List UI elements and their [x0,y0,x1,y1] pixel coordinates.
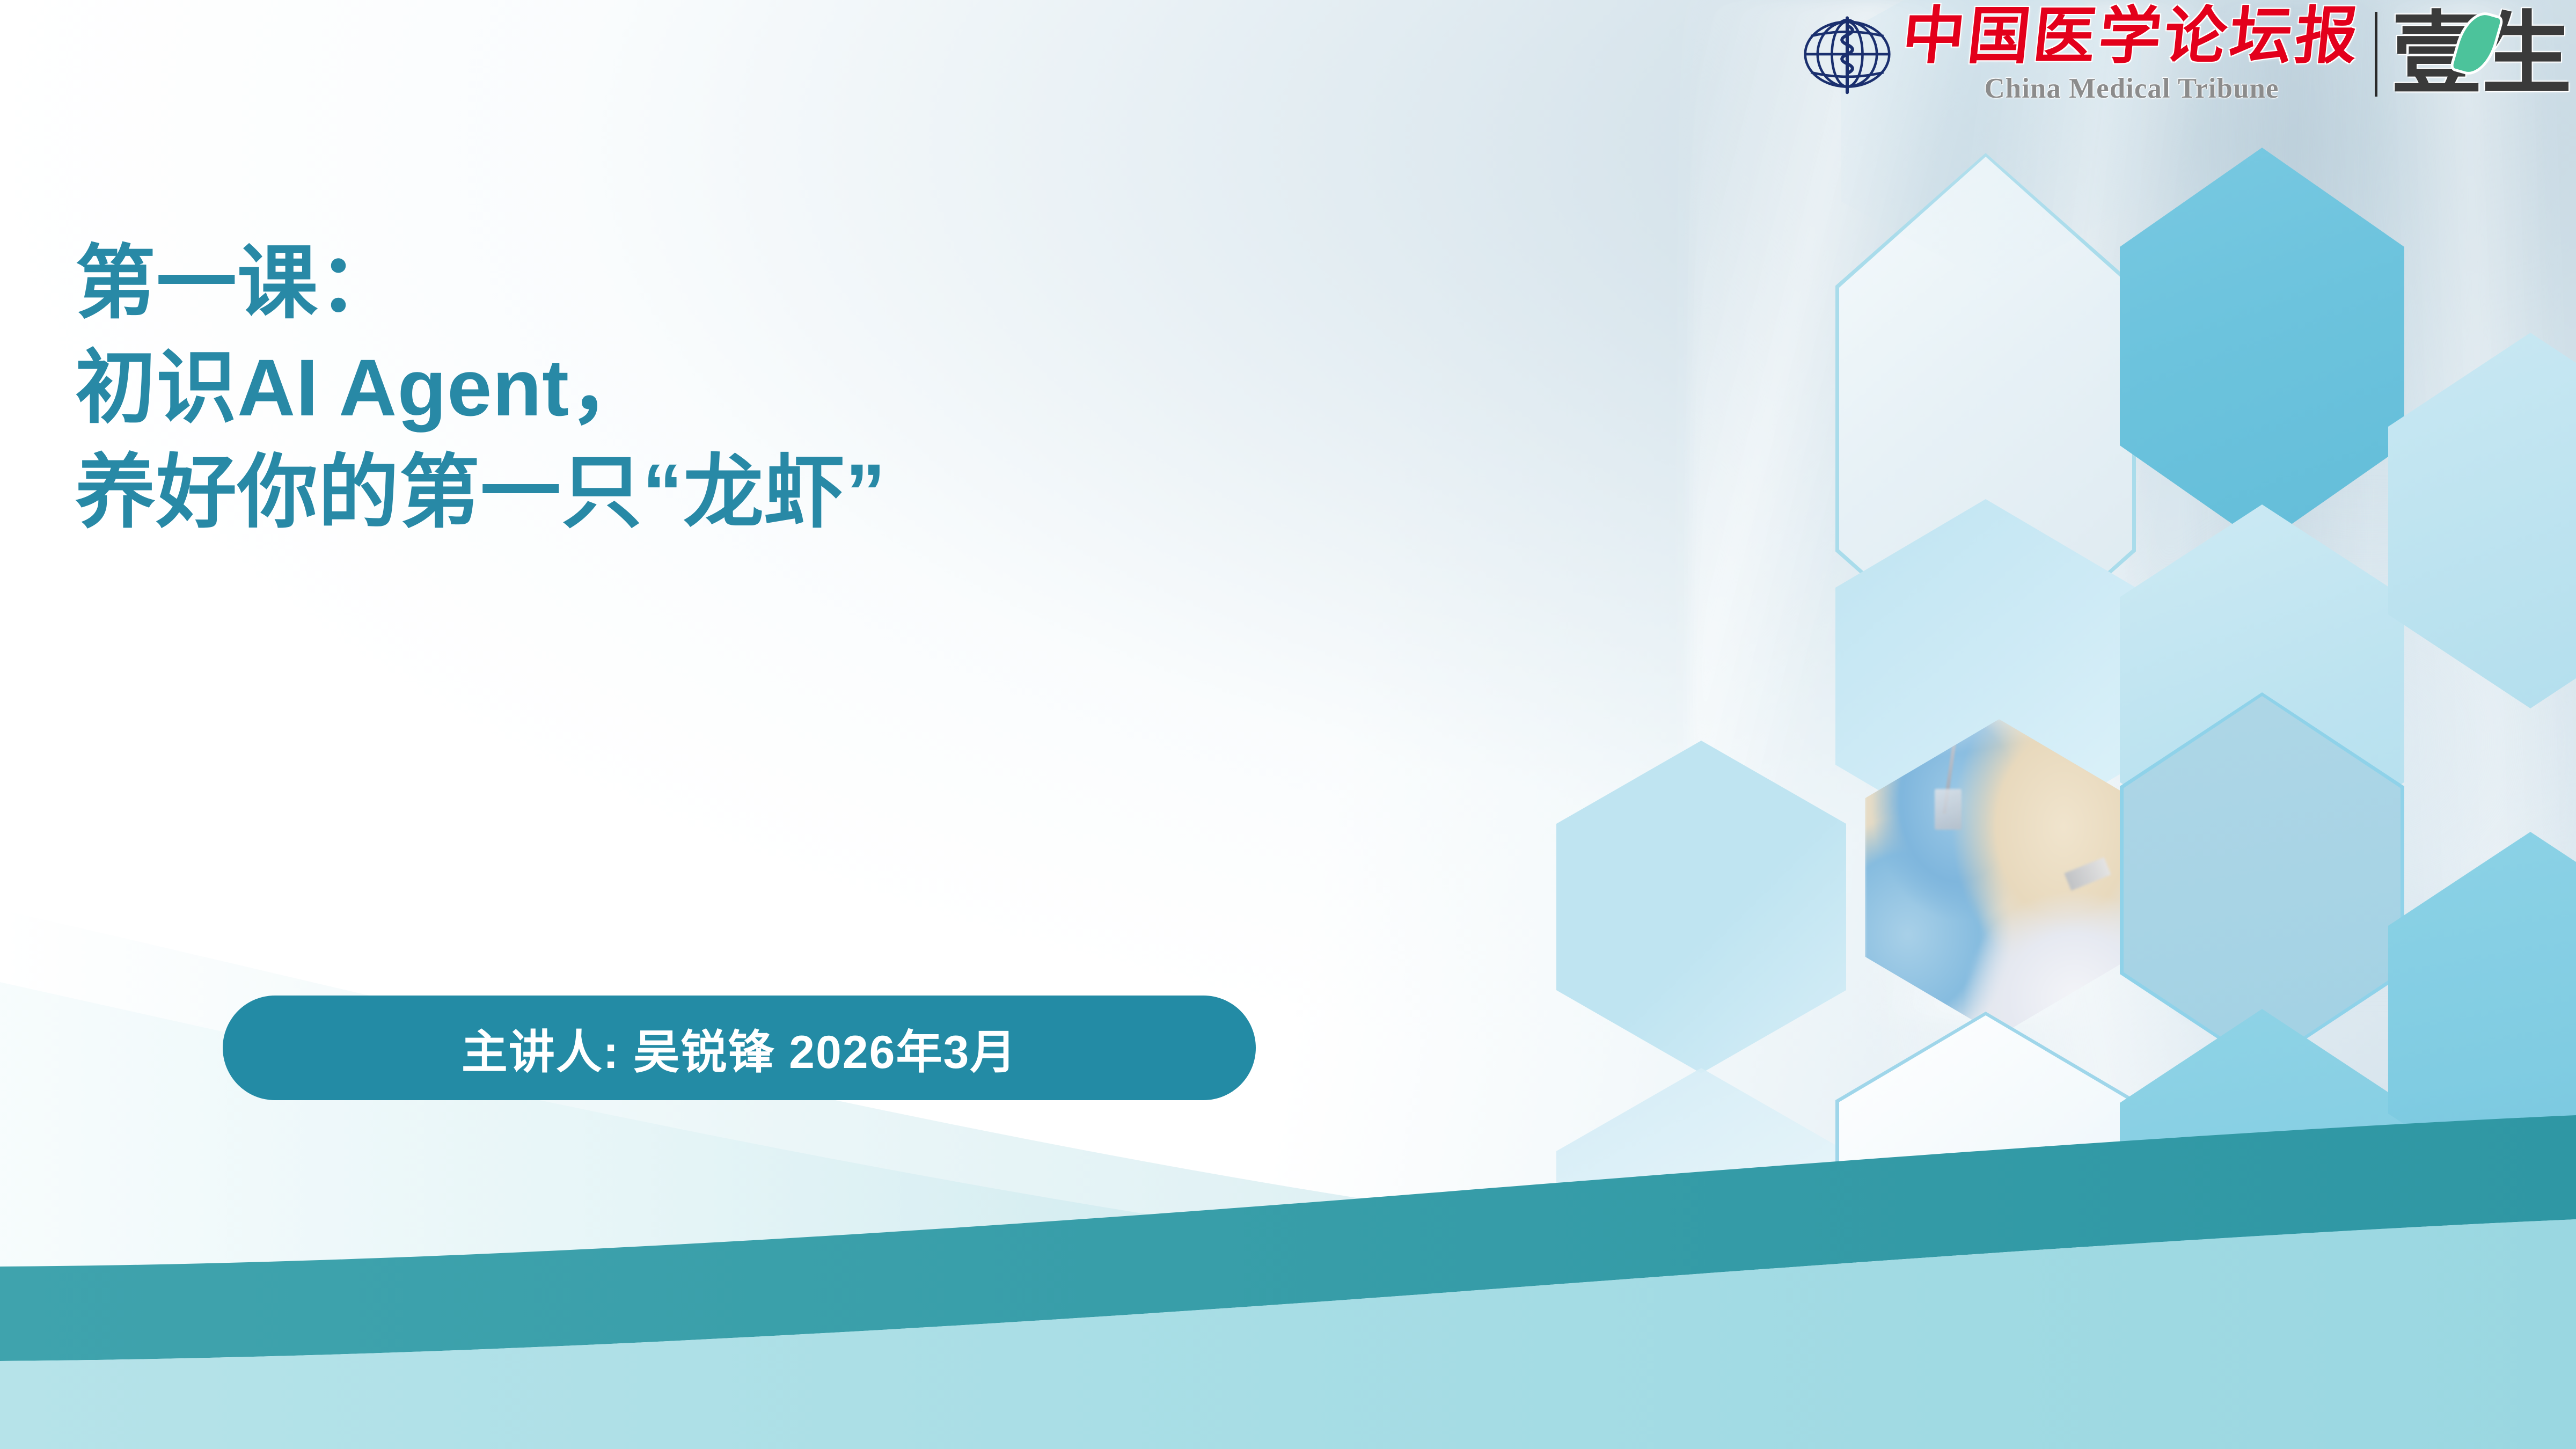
brand-logo-bar: 中国医学论坛报 China Medical Tribune 壹生 [1799,3,2576,105]
slide-title: 第一课： 初识AI Agent， 养好你的第一只“龙虾” [75,231,1674,545]
speaker-badge: 主讲人: 吴锐锋 2026年3月 [223,996,1256,1100]
speaker-label: 主讲人: 吴锐锋 2026年3月 [462,1014,1018,1081]
logo-chinese-name: 中国医学论坛报 [1899,6,2364,68]
title-line-2: 初识AI Agent， [75,335,1674,440]
yisheng-sub-brand: 壹生 [2391,9,2576,99]
globe-caduceus-icon [1799,6,1895,102]
title-line-1: 第一课： [75,231,1674,335]
slide-canvas: 第一课： 初识AI Agent， 养好你的第一只“龙虾” 主讲人: 吴锐锋 20… [0,0,2576,1449]
hexagon-solid [2120,148,2404,545]
hexagon-pale [2388,333,2576,708]
china-medical-tribune-logo: 中国医学论坛报 China Medical Tribune [1902,6,2361,103]
logo-english-name: China Medical Tribune [1984,75,2279,103]
bottom-wave-decoration [0,859,2576,1449]
brand-divider [2375,12,2377,97]
title-line-3: 养好你的第一只“龙虾” [75,440,1674,545]
